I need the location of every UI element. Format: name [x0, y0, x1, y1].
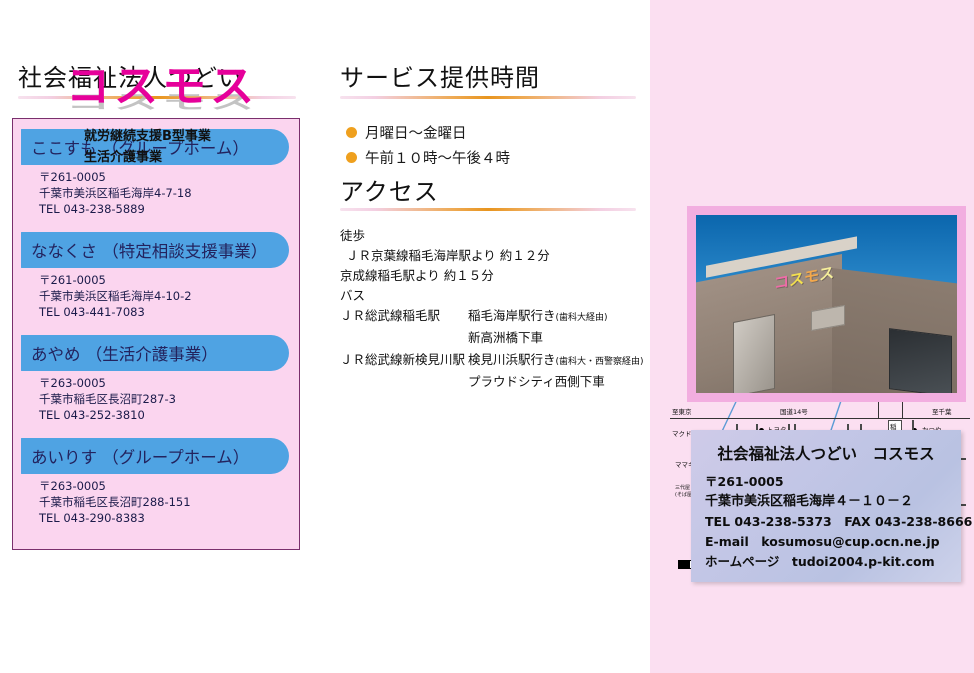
bus-label: バス: [340, 286, 650, 306]
facility-item: あやめ （生活介護事業） 〒263-0005 千葉市稲毛区長沼町287-3 TE…: [21, 335, 293, 423]
facility-tel: TEL 043-290-8383: [39, 510, 293, 526]
facility-list-panel: ここすも （グループホーム） 〒261-0005 千葉市美浜区稲毛海岸4-7-1…: [12, 118, 300, 550]
business-line: 就労継続支援B型事業: [84, 126, 211, 147]
bus-row: ＪＲ総武線新検見川駅検見川浜駅行き(歯科大・西警察経由): [340, 350, 650, 372]
bullet-icon: [346, 152, 357, 163]
facility-item: あいりす （グループホーム） 〒263-0005 千葉市稲毛区長沼町288-15…: [21, 438, 293, 526]
facility-address: 千葉市美浜区稲毛海岸4-10-2: [39, 288, 293, 304]
brand-title-block: コスモス コスモス: [0, 50, 324, 112]
hours-text: 月曜日〜金曜日: [365, 122, 467, 143]
bus-to: 新高洲橋下車: [468, 330, 543, 345]
contact-email: E-mail kosumosu@cup.ocn.ne.jp: [705, 532, 947, 552]
bus-to: 稲毛海岸駅行き: [468, 308, 556, 323]
facility-tel: TEL 043-252-3810: [39, 407, 293, 423]
facility-name-pill: ななくさ （特定相談支援事業）: [21, 232, 289, 268]
bullet-icon: [346, 127, 357, 138]
bus-from: ＪＲ総武線稲毛駅: [340, 306, 468, 326]
building-photo: コスモス: [696, 215, 957, 393]
access-details: 徒歩 ＪＲ京葉線稲毛海岸駅より 約１２分 京成線稲毛駅より 約１５分 バス ＪＲ…: [340, 226, 650, 394]
brochure-page: 社会福祉法人つどい ここすも （グループホーム） 〒261-0005 千葉市美浜…: [0, 0, 974, 673]
map-label-route14: 国道14号: [780, 406, 808, 416]
sign-char: コ: [774, 272, 789, 293]
hours-item: 午前１０時〜午後４時: [346, 147, 636, 168]
facility-address: 千葉市稲毛区長沼町288-151: [39, 494, 293, 510]
access-title: アクセス: [340, 172, 439, 207]
walk-label: 徒歩: [340, 226, 650, 246]
business-line: 生活介護事業: [84, 147, 211, 168]
map-road-route14-top: [670, 418, 970, 419]
photo-entrance-door: [733, 314, 775, 393]
facility-postal: 〒263-0005: [39, 478, 293, 494]
brand-title: コスモス: [0, 50, 324, 114]
bus-from: ＪＲ総武線新検見川駅: [340, 350, 468, 370]
hours-item: 月曜日〜金曜日: [346, 122, 636, 143]
facility-details: 〒261-0005 千葉市美浜区稲毛海岸4-10-2 TEL 043-441-7…: [21, 268, 293, 320]
photo-window: [889, 329, 952, 393]
building-photo-frame: コスモス: [687, 206, 966, 402]
service-hours-divider: [340, 96, 636, 99]
walk-line: ＪＲ京葉線稲毛海岸駅より 約１２分: [340, 246, 650, 266]
contact-postal: 〒261-0005: [705, 472, 947, 492]
facility-item: ななくさ （特定相談支援事業） 〒261-0005 千葉市美浜区稲毛海岸4-10…: [21, 232, 293, 320]
facility-name-pill: あやめ （生活介護事業）: [21, 335, 289, 371]
facility-details: 〒263-0005 千葉市稲毛区長沼町287-3 TEL 043-252-381…: [21, 371, 293, 423]
walk-line: 京成線稲毛駅より 約１５分: [340, 266, 650, 286]
service-hours-list: 月曜日〜金曜日 午前１０時〜午後４時: [340, 118, 636, 172]
business-lines: 就労継続支援B型事業 生活介護事業: [84, 126, 211, 168]
facility-details: 〒263-0005 千葉市稲毛区長沼町288-151 TEL 043-290-8…: [21, 474, 293, 526]
bus-to: プラウドシティ西側下車: [468, 374, 605, 389]
map-road-divider: [878, 402, 879, 419]
facility-address: 千葉市稲毛区長沼町287-3: [39, 391, 293, 407]
contact-address: 千葉市美浜区稲毛海岸４－１０－２: [705, 492, 947, 512]
sign-char: モ: [804, 266, 819, 287]
access-divider: [340, 208, 636, 211]
map-road-divider: [902, 402, 903, 419]
facility-name: あいりす （グループホーム）: [21, 444, 249, 468]
bus-note: (歯科大・西警察経由): [556, 357, 644, 367]
facility-tel: TEL 043-238-5889: [39, 201, 293, 217]
sign-char: ス: [819, 263, 834, 284]
sign-char: ス: [789, 269, 804, 290]
middle-column: サービス提供時間 月曜日〜金曜日 午前１０時〜午後４時 アクセス 徒歩 ＪＲ京葉…: [330, 0, 650, 673]
map-label-to-tokyo: 至東京: [672, 406, 692, 416]
bus-note: (歯科大経由): [556, 313, 608, 323]
contact-title: 社会福祉法人つどい コスモス: [705, 442, 947, 464]
bus-row: ＪＲ総武線稲毛駅稲毛海岸駅行き(歯科大経由): [340, 306, 650, 328]
facility-postal: 〒263-0005: [39, 375, 293, 391]
contact-homepage: ホームページ tudoi2004.p-kit.com: [705, 552, 947, 572]
bus-row: プラウドシティ西側下車: [340, 372, 650, 394]
facility-details: 〒261-0005 千葉市美浜区稲毛海岸4-7-18 TEL 043-238-5…: [21, 165, 293, 217]
contact-tel-fax: TEL 043-238-5373 FAX 043-238-8666: [705, 512, 947, 532]
facility-name: ななくさ （特定相談支援事業）: [21, 238, 267, 262]
facility-address: 千葉市美浜区稲毛海岸4-7-18: [39, 185, 293, 201]
facility-tel: TEL 043-441-7083: [39, 304, 293, 320]
facility-postal: 〒261-0005: [39, 169, 293, 185]
map-label-to-chiba: 至千葉: [932, 406, 952, 416]
hours-text: 午前１０時〜午後４時: [365, 147, 510, 168]
contact-box: 社会福祉法人つどい コスモス 〒261-0005 千葉市美浜区稲毛海岸４－１０－…: [691, 430, 961, 582]
service-hours-title: サービス提供時間: [340, 58, 540, 93]
facility-postal: 〒261-0005: [39, 272, 293, 288]
facility-name: あやめ （生活介護事業）: [21, 341, 218, 365]
bus-to: 検見川浜駅行き: [468, 352, 556, 367]
facility-name-pill: あいりす （グループホーム）: [21, 438, 289, 474]
bus-row: 新高洲橋下車: [340, 328, 650, 350]
